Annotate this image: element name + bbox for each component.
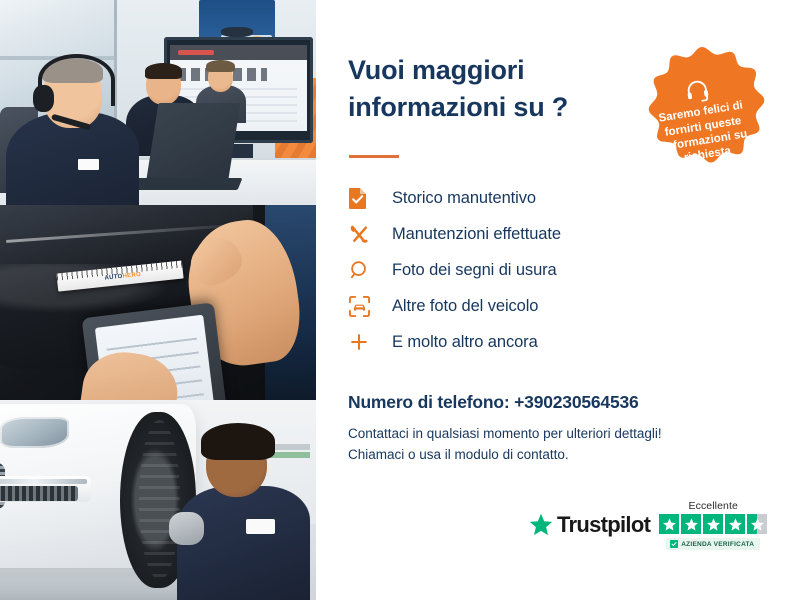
title-divider (349, 155, 399, 158)
trustpilot-brand-name: Trustpilot (557, 512, 650, 538)
webcam (221, 27, 253, 37)
contact-line-1: Contattaci in qualsiasi momento per ulte… (348, 424, 768, 445)
headset-icon (682, 76, 712, 106)
list-item: Foto dei segni di usura (348, 252, 678, 288)
star-filled (725, 514, 745, 534)
verified-business-badge: AZIENDA VERIFICATA (666, 538, 760, 550)
agent-hair (206, 60, 235, 72)
photo-column: AUTOHERO (0, 0, 316, 600)
contact-description: Contattaci in qualsiasi momento per ulte… (348, 424, 768, 466)
trustpilot-stars (659, 514, 767, 534)
trustpilot-rating-label: Eccellente (688, 500, 737, 512)
badge-text: Saremo felici di fornirti queste informa… (642, 96, 766, 171)
list-item-label: Foto dei segni di usura (392, 261, 557, 280)
list-item: Storico manutentivo (348, 180, 678, 216)
mechanic-logo-patch (246, 519, 275, 534)
autohero-logo-suffix: HERO (122, 272, 141, 280)
mechanic-hair (201, 423, 275, 460)
tire-tread (139, 420, 180, 580)
trustpilot-rating: Eccellente AZIENDA VERIFICATA (659, 500, 767, 550)
autohero-logo-prefix: AUTO (104, 274, 123, 282)
tools-icon (348, 221, 378, 247)
list-item: Manutenzioni effettuate (348, 216, 678, 252)
page-title: Vuoi maggiori informazioni su ? (348, 52, 638, 127)
feature-list: Storico manutentivo Manutenzioni effettu… (348, 180, 678, 360)
list-item: E molto altro ancora (348, 324, 678, 360)
info-on-request-badge: Saremo felici di fornirti queste informa… (626, 44, 778, 196)
content-panel: Vuoi maggiori informazioni su ? Saremo f… (316, 0, 800, 600)
headlight (0, 417, 68, 448)
check-icon (670, 540, 678, 548)
agent-hair (145, 63, 183, 79)
car-inspection-ruler-photo: AUTOHERO (0, 205, 316, 400)
car-scan-icon (348, 293, 378, 319)
list-item: Altre foto del veicolo (348, 288, 678, 324)
list-item-label: E molto altro ancora (392, 333, 538, 352)
star-filled (681, 514, 701, 534)
mechanic-glove (169, 512, 204, 545)
call-center-agents-photo (0, 0, 316, 205)
chrome-trim (0, 479, 87, 484)
air-intake (0, 486, 78, 501)
mechanic-tire-inspection-photo (0, 400, 316, 600)
document-check-icon (348, 185, 378, 211)
star-filled (659, 514, 679, 534)
star-half (747, 514, 767, 534)
trustpilot-logo: Trustpilot (528, 512, 650, 538)
trustpilot-star-icon (528, 512, 554, 538)
mechanic (177, 416, 310, 600)
star-filled (703, 514, 723, 534)
agent-name-badge (78, 159, 99, 170)
trustpilot-widget[interactable]: Trustpilot Eccellente AZIENDA VERIFICATA (528, 500, 767, 550)
agent-foreground (6, 45, 139, 205)
headset-earcup (33, 85, 54, 112)
promo-banner: AUTOHERO (0, 0, 800, 600)
plus-icon (348, 329, 378, 355)
list-item-label: Storico manutentivo (392, 189, 536, 208)
laptop (145, 103, 240, 185)
verified-business-label: AZIENDA VERIFICATA (681, 541, 754, 548)
magnifier-icon (348, 257, 378, 283)
list-item-label: Altre foto del veicolo (392, 297, 538, 316)
contact-line-2: Chiamaci o usa il modulo di contatto. (348, 445, 768, 466)
list-item-label: Manutenzioni effettuate (392, 225, 561, 244)
laptop-base (130, 178, 242, 190)
phone-number-label: Numero di telefono: +390230564536 (348, 392, 639, 413)
